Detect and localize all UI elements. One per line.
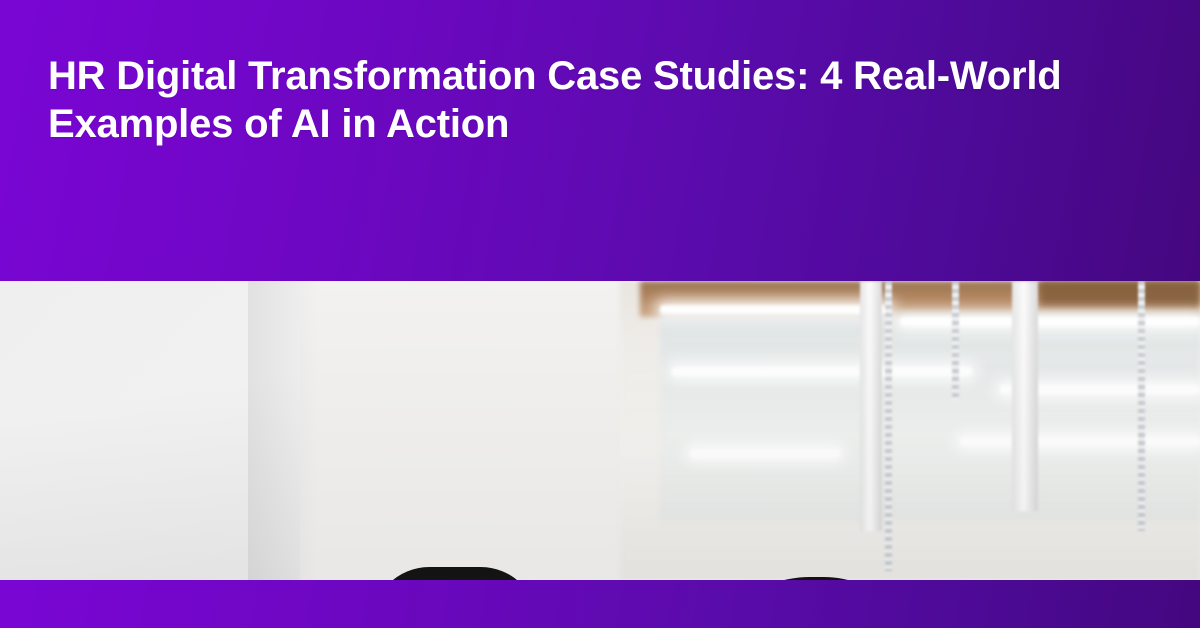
ceiling-wood-beam-secondary xyxy=(1040,281,1200,307)
vertical-rail xyxy=(885,281,892,571)
structural-pillar xyxy=(860,281,882,531)
vertical-rail xyxy=(1138,281,1145,531)
wall-shadow xyxy=(248,281,318,580)
ceiling-light xyxy=(660,305,890,314)
hero-photo xyxy=(0,281,1200,580)
structural-pillar xyxy=(1012,281,1038,511)
glass-partition xyxy=(660,311,1200,521)
ceiling-light xyxy=(960,437,1200,446)
page-title: HR Digital Transformation Case Studies: … xyxy=(48,52,1108,148)
man-hair xyxy=(372,567,538,580)
ceiling-light xyxy=(690,449,840,458)
photo-scene xyxy=(0,281,1200,580)
vertical-rail xyxy=(952,281,959,401)
article-hero-banner: HR Digital Transformation Case Studies: … xyxy=(0,0,1200,628)
ceiling-light xyxy=(900,317,1200,326)
ceiling-light xyxy=(672,367,972,376)
footer-gradient-band xyxy=(0,580,1200,628)
